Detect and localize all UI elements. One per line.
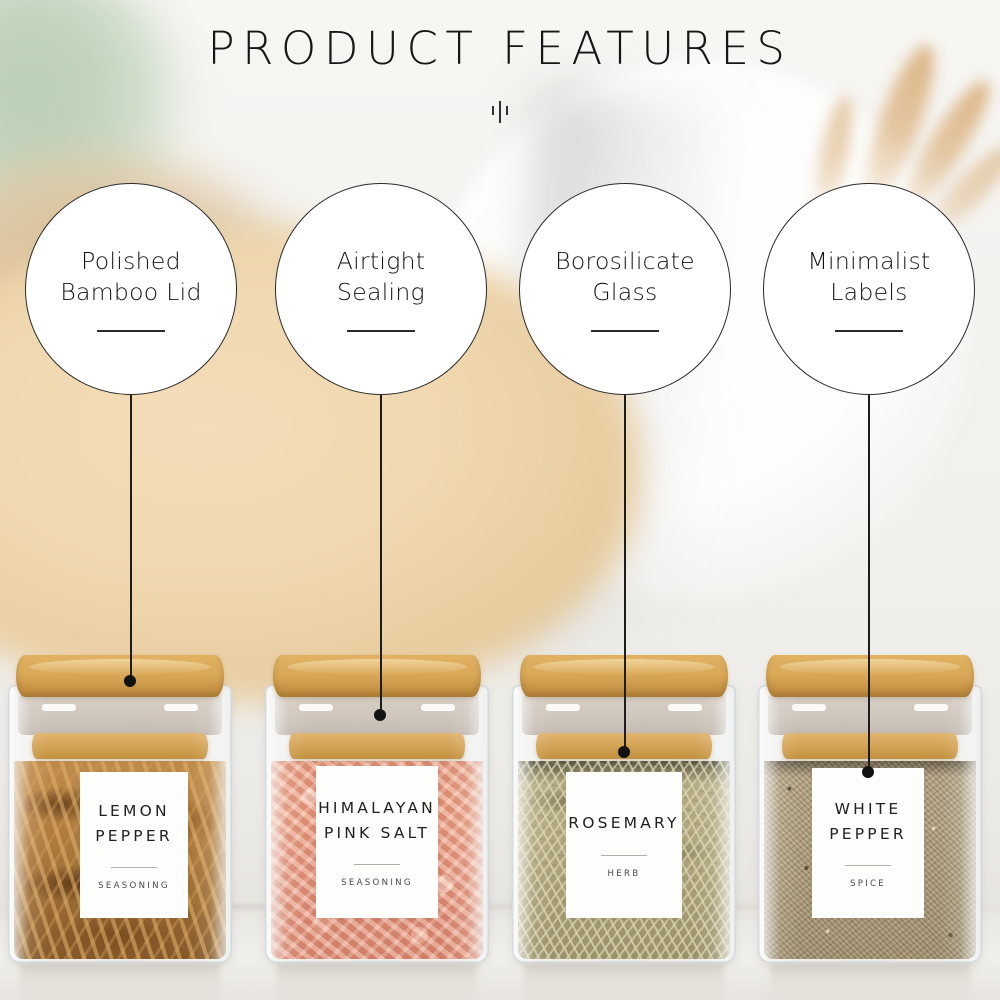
product-label-divider [354, 864, 400, 865]
product-label-divider [111, 867, 157, 868]
product-label-divider [601, 855, 647, 856]
product-label-title: LEMON PEPPER [95, 799, 173, 847]
jar-reflection [770, 963, 970, 1000]
bamboo-lid [766, 655, 974, 697]
leader-dot-minimalist-labels [862, 766, 874, 778]
product-label-lemon-pepper: LEMON PEPPER SEASONING [80, 772, 188, 918]
product-label-white-pepper: WHITE PEPPER SPICE [812, 768, 924, 918]
ornament-stroke-left [492, 106, 494, 115]
silicone-seal-ring [768, 693, 972, 735]
title-divider-ornament [0, 95, 1000, 123]
leader-dot-airtight-sealing [374, 709, 386, 721]
jar-reflection [20, 963, 220, 1000]
bamboo-lid-plug [32, 733, 208, 759]
leader-line-airtight-sealing [380, 392, 382, 715]
bamboo-lid [16, 655, 224, 697]
feature-callout-minimalist-labels[interactable]: Minimalist Labels [763, 183, 975, 395]
silicone-seal-ring [18, 693, 222, 735]
feature-callout-borosilicate-glass[interactable]: Borosilicate Glass [519, 183, 731, 395]
bamboo-lid-plug [782, 733, 958, 759]
leader-line-polished-bamboo-lid [130, 392, 132, 681]
feature-callout-airtight-sealing[interactable]: Airtight Sealing [275, 183, 487, 395]
product-label-rosemary: ROSEMARY HERB [566, 772, 682, 918]
ornament-stroke-center [499, 101, 501, 123]
feature-callout-polished-bamboo-lid[interactable]: Polished Bamboo Lid [25, 183, 237, 395]
product-label-title: ROSEMARY [568, 811, 679, 835]
callout-underline [347, 330, 415, 332]
product-label-subtitle: SPICE [850, 879, 886, 889]
product-label-divider [845, 865, 891, 866]
product-label-subtitle: SEASONING [341, 878, 413, 888]
feature-label: Polished Bamboo Lid [52, 246, 209, 309]
product-label-subtitle: SEASONING [98, 881, 170, 891]
product-label-title: WHITE PEPPER [829, 797, 907, 845]
callout-underline [97, 330, 165, 332]
page-title: PRODUCT FEATURES [0, 22, 1000, 75]
bamboo-lid [273, 655, 481, 697]
jar-reflection [277, 963, 477, 1000]
product-label-subtitle: HERB [608, 869, 641, 879]
product-label-title: HIMALAYAN PINK SALT [318, 796, 436, 844]
product-features-infographic: PRODUCT FEATURES Polished Bamboo Lid Air… [0, 0, 1000, 1000]
bamboo-lid-plug [289, 733, 465, 759]
ornament-stroke-right [506, 106, 508, 115]
jar-reflection [524, 963, 724, 1000]
leader-dot-borosilicate-glass [618, 746, 630, 758]
callout-underline [835, 330, 903, 332]
callout-underline [591, 330, 659, 332]
leader-line-minimalist-labels [868, 392, 870, 772]
feature-label: Minimalist Labels [799, 246, 938, 309]
feature-label: Borosilicate Glass [547, 246, 703, 309]
product-label-himalayan-pink-salt: HIMALAYAN PINK SALT SEASONING [316, 766, 438, 918]
feature-label: Airtight Sealing [329, 246, 434, 309]
leader-line-borosilicate-glass [624, 392, 626, 752]
leader-dot-polished-bamboo-lid [124, 675, 136, 687]
